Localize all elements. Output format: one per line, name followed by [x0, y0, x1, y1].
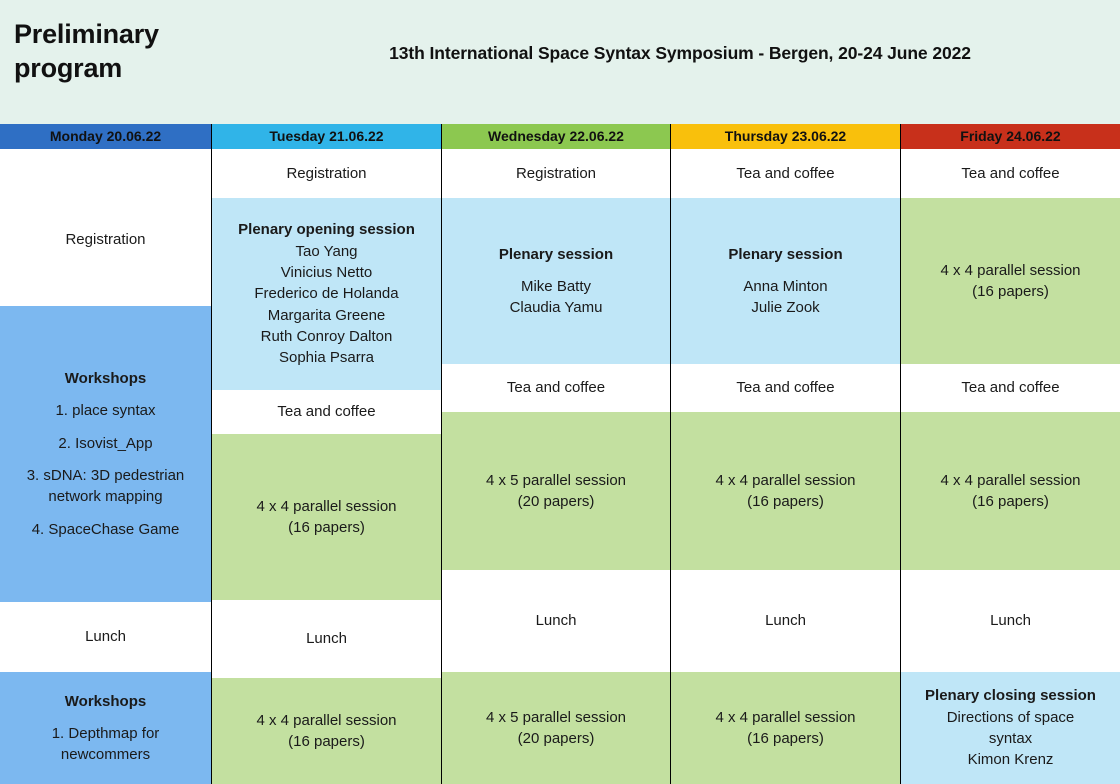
cell-monday-workshops-afternoon: Workshops1. Depthmap fornewcommers [0, 672, 211, 784]
cell-line: Workshops [4, 368, 207, 389]
cell-thursday-session-afternoon: 4 x 4 parallel session(16 papers) [671, 672, 900, 784]
cell-monday-workshops: Workshops1. place syntax2. Isovist_App3.… [0, 306, 211, 602]
column-header-monday: Monday 20.06.22 [0, 124, 211, 149]
cell-line: Registration [4, 229, 207, 250]
column-header-tuesday: Tuesday 21.06.22 [212, 124, 441, 149]
cell-line: Tea and coffee [675, 163, 896, 184]
cell-line: Registration [216, 163, 437, 184]
cell-thursday-tea-second: Tea and coffee [671, 364, 900, 412]
column-separator-1 [211, 124, 212, 784]
cell-line: Plenary session [446, 244, 666, 265]
cell-tuesday-plenary-opening: Plenary opening sessionTao YangVinicius … [212, 198, 441, 390]
cell-line [4, 389, 207, 400]
cell-line: Registration [446, 163, 666, 184]
column-header-friday: Friday 24.06.22 [901, 124, 1120, 149]
cell-line: Tea and coffee [905, 377, 1116, 398]
cell-line: 4 x 4 parallel session [675, 707, 896, 728]
column-header-thursday: Thursday 23.06.22 [671, 124, 900, 149]
cell-line: Plenary closing session [905, 685, 1116, 706]
cell-line: (16 papers) [905, 281, 1116, 302]
cell-line: Mike Batty [446, 276, 666, 297]
cell-line: Tea and coffee [446, 377, 666, 398]
cell-line: Workshops [4, 691, 207, 712]
cell-thursday-lunch: Lunch [671, 570, 900, 672]
cell-line: 4 x 5 parallel session [446, 707, 666, 728]
cell-line: 1. Depthmap for [4, 723, 207, 744]
column-separator-4 [900, 124, 901, 784]
cell-tuesday-session-morning: 4 x 4 parallel session(16 papers) [212, 434, 441, 600]
cell-line: Julie Zook [675, 297, 896, 318]
page-banner: Preliminary program 13th International S… [0, 0, 1120, 124]
column-separator-2 [441, 124, 442, 784]
page-title: Preliminary program [14, 18, 234, 86]
cell-line: Lunch [446, 610, 666, 631]
cell-friday-lunch: Lunch [901, 570, 1120, 672]
cell-line: 4 x 4 parallel session [216, 710, 437, 731]
cell-line: (20 papers) [446, 491, 666, 512]
cell-line: 4 x 4 parallel session [905, 470, 1116, 491]
cell-friday-tea-second: Tea and coffee [901, 364, 1120, 412]
cell-wednesday-session-morning: 4 x 5 parallel session(20 papers) [442, 412, 670, 570]
cell-thursday-session-morning: 4 x 4 parallel session(16 papers) [671, 412, 900, 570]
cell-line: (16 papers) [675, 491, 896, 512]
cell-line: (20 papers) [446, 728, 666, 749]
cell-wednesday-lunch: Lunch [442, 570, 670, 672]
cell-line: Lunch [4, 626, 207, 647]
column-separator-3 [670, 124, 671, 784]
cell-friday-session-morning: 4 x 4 parallel session(16 papers) [901, 412, 1120, 570]
cell-line: Margarita Greene [216, 305, 437, 326]
cell-line: network mapping [4, 486, 207, 507]
cell-line: Lunch [675, 610, 896, 631]
cell-line: Vinicius Netto [216, 262, 437, 283]
cell-line: 4. SpaceChase Game [4, 519, 207, 540]
cell-line: Anna Minton [675, 276, 896, 297]
cell-line: Tea and coffee [905, 163, 1116, 184]
cell-tuesday-lunch: Lunch [212, 600, 441, 678]
cell-line [446, 265, 666, 276]
cell-thursday-tea: Tea and coffee [671, 150, 900, 198]
cell-wednesday-tea: Tea and coffee [442, 364, 670, 412]
cell-tuesday-session-afternoon: 4 x 4 parallel session(16 papers) [212, 678, 441, 784]
cell-line: Lunch [905, 610, 1116, 631]
cell-line: 4 x 4 parallel session [905, 260, 1116, 281]
cell-line: Tea and coffee [216, 401, 437, 422]
cell-wednesday-registration: Registration [442, 150, 670, 198]
cell-line: Plenary session [675, 244, 896, 265]
cell-line [675, 265, 896, 276]
cell-line: (16 papers) [216, 731, 437, 752]
cell-line: Claudia Yamu [446, 297, 666, 318]
cell-line: 4 x 4 parallel session [216, 496, 437, 517]
cell-line: 3. sDNA: 3D pedestrian [4, 465, 207, 486]
cell-tuesday-registration: Registration [212, 150, 441, 198]
cell-line: Sophia Psarra [216, 347, 437, 368]
cell-line [4, 422, 207, 433]
cell-line: Tao Yang [216, 241, 437, 262]
cell-friday-tea: Tea and coffee [901, 150, 1120, 198]
cell-line: (16 papers) [905, 491, 1116, 512]
cell-line: Directions of space [905, 707, 1116, 728]
schedule-grid: Monday 20.06.22 Tuesday 21.06.22 Wednesd… [0, 124, 1120, 784]
cell-line: 4 x 4 parallel session [675, 470, 896, 491]
cell-line: 2. Isovist_App [4, 433, 207, 454]
cell-line: Ruth Conroy Dalton [216, 326, 437, 347]
symposium-title: 13th International Space Syntax Symposiu… [300, 43, 1060, 64]
cell-thursday-plenary: Plenary sessionAnna MintonJulie Zook [671, 198, 900, 364]
cell-line: Tea and coffee [675, 377, 896, 398]
cell-friday-session-early: 4 x 4 parallel session(16 papers) [901, 198, 1120, 364]
cell-line: syntax [905, 728, 1116, 749]
cell-line [4, 454, 207, 465]
preliminary-program-page: Preliminary program 13th International S… [0, 0, 1120, 784]
cell-line: 4 x 5 parallel session [446, 470, 666, 491]
cell-line: (16 papers) [216, 517, 437, 538]
cell-line [4, 508, 207, 519]
cell-line: Frederico de Holanda [216, 283, 437, 304]
cell-line: newcommers [4, 744, 207, 765]
cell-line: Kimon Krenz [905, 749, 1116, 770]
cell-tuesday-tea: Tea and coffee [212, 390, 441, 434]
cell-line: Plenary opening session [216, 219, 437, 240]
cell-line: 1. place syntax [4, 400, 207, 421]
cell-monday-registration: Registration [0, 150, 211, 330]
column-header-wednesday: Wednesday 22.06.22 [442, 124, 670, 149]
cell-friday-plenary-closing: Plenary closing sessionDirections of spa… [901, 672, 1120, 784]
cell-line: Lunch [216, 628, 437, 649]
cell-monday-lunch: Lunch [0, 602, 211, 672]
cell-line [4, 712, 207, 723]
cell-wednesday-plenary: Plenary sessionMike BattyClaudia Yamu [442, 198, 670, 364]
cell-line: (16 papers) [675, 728, 896, 749]
cell-wednesday-session-afternoon: 4 x 5 parallel session(20 papers) [442, 672, 670, 784]
